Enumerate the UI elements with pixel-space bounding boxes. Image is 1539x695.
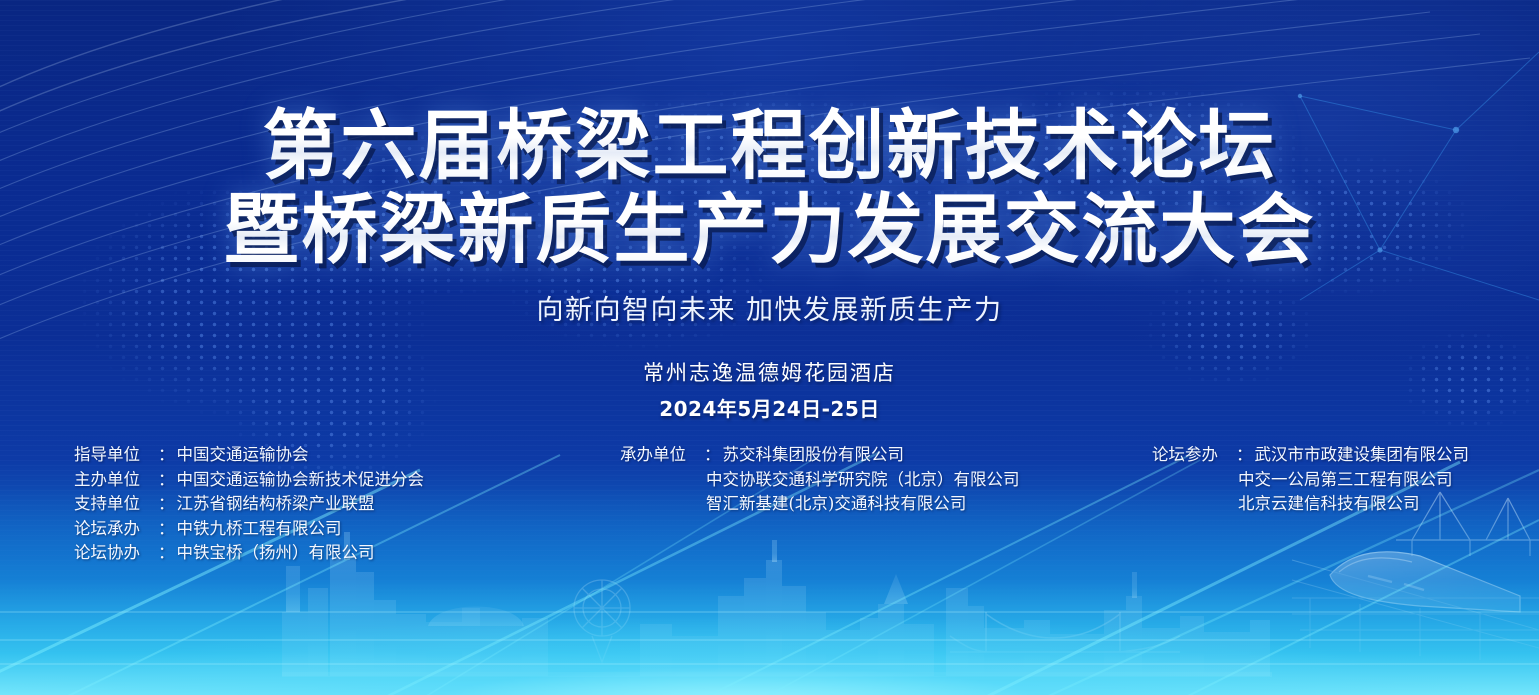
credit-label: 指导单位 — [74, 443, 158, 468]
credit-row: 中交协联交通科学研究院（北京）有限公司 — [620, 468, 1020, 493]
credit-separator: ： — [158, 492, 177, 517]
credit-label: 论坛协办 — [74, 541, 158, 566]
credit-separator: ： — [704, 443, 723, 468]
credit-row: 论坛参办 ： 武汉市市政建设集团有限公司 — [1152, 443, 1469, 468]
credit-value: 中交一公局第三工程有限公司 — [1238, 468, 1453, 493]
credit-separator: ： — [158, 517, 177, 542]
credit-row: 主办单位 ： 中国交通运输协会新技术促进分会 — [74, 468, 424, 493]
credit-label: 支持单位 — [74, 492, 158, 517]
credit-value: 中交协联交通科学研究院（北京）有限公司 — [706, 468, 1020, 493]
credit-separator: ： — [158, 541, 177, 566]
credit-value: 苏交科集团股份有限公司 — [723, 443, 905, 468]
credit-separator: ： — [158, 443, 177, 468]
event-date: 2024年5月24日-25日 — [0, 393, 1539, 422]
credit-label: 论坛参办 — [1152, 443, 1236, 468]
credit-row: 论坛协办 ： 中铁宝桥（扬州）有限公司 — [74, 541, 424, 566]
credit-row: 智汇新基建(北京)交通科技有限公司 — [620, 492, 1020, 517]
venue-name: 常州志逸温德姆花园酒店 — [0, 357, 1539, 387]
credit-row: 论坛承办 ： 中铁九桥工程有限公司 — [74, 517, 424, 542]
credit-label: 主办单位 — [74, 468, 158, 493]
banner-content: 第六届桥梁工程创新技术论坛 暨桥梁新质生产力发展交流大会 向新向智向未来 加快发… — [0, 0, 1539, 695]
credits-column-right: 论坛参办 ： 武汉市市政建设集团有限公司 中交一公局第三工程有限公司 北京云建信… — [1152, 443, 1469, 517]
credit-value: 中国交通运输协会新技术促进分会 — [177, 468, 425, 493]
credit-value: 中国交通运输协会 — [177, 443, 309, 468]
credits-block: 指导单位 ： 中国交通运输协会 主办单位 ： 中国交通运输协会新技术促进分会 支… — [0, 443, 1539, 573]
credits-column-left: 指导单位 ： 中国交通运输协会 主办单位 ： 中国交通运输协会新技术促进分会 支… — [74, 443, 424, 566]
credit-row: 中交一公局第三工程有限公司 — [1152, 468, 1469, 493]
credit-value: 智汇新基建(北京)交通科技有限公司 — [706, 492, 966, 517]
title-block: 第六届桥梁工程创新技术论坛 暨桥梁新质生产力发展交流大会 向新向智向未来 加快发… — [0, 104, 1539, 422]
conference-banner: 第六届桥梁工程创新技术论坛 暨桥梁新质生产力发展交流大会 向新向智向未来 加快发… — [0, 0, 1539, 695]
credit-row: 北京云建信科技有限公司 — [1152, 492, 1469, 517]
credit-value: 中铁宝桥（扬州）有限公司 — [177, 541, 375, 566]
main-title-line-2: 暨桥梁新质生产力发展交流大会 — [0, 188, 1539, 272]
credit-row: 承办单位 ： 苏交科集团股份有限公司 — [620, 443, 1020, 468]
credit-row: 支持单位 ： 江苏省钢结构桥梁产业联盟 — [74, 492, 424, 517]
credit-value: 北京云建信科技有限公司 — [1238, 492, 1420, 517]
credit-row: 指导单位 ： 中国交通运输协会 — [74, 443, 424, 468]
credit-separator: ： — [158, 468, 177, 493]
credits-column-middle: 承办单位 ： 苏交科集团股份有限公司 中交协联交通科学研究院（北京）有限公司 智… — [620, 443, 1020, 517]
main-title-line-1: 第六届桥梁工程创新技术论坛 — [0, 104, 1539, 188]
credit-label: 论坛承办 — [74, 517, 158, 542]
credit-value: 中铁九桥工程有限公司 — [177, 517, 342, 542]
subtitle: 向新向智向未来 加快发展新质生产力 — [0, 288, 1539, 327]
credit-value: 江苏省钢结构桥梁产业联盟 — [177, 492, 375, 517]
credit-separator: ： — [1236, 443, 1255, 468]
credit-label: 承办单位 — [620, 443, 704, 468]
credit-value: 武汉市市政建设集团有限公司 — [1255, 443, 1470, 468]
